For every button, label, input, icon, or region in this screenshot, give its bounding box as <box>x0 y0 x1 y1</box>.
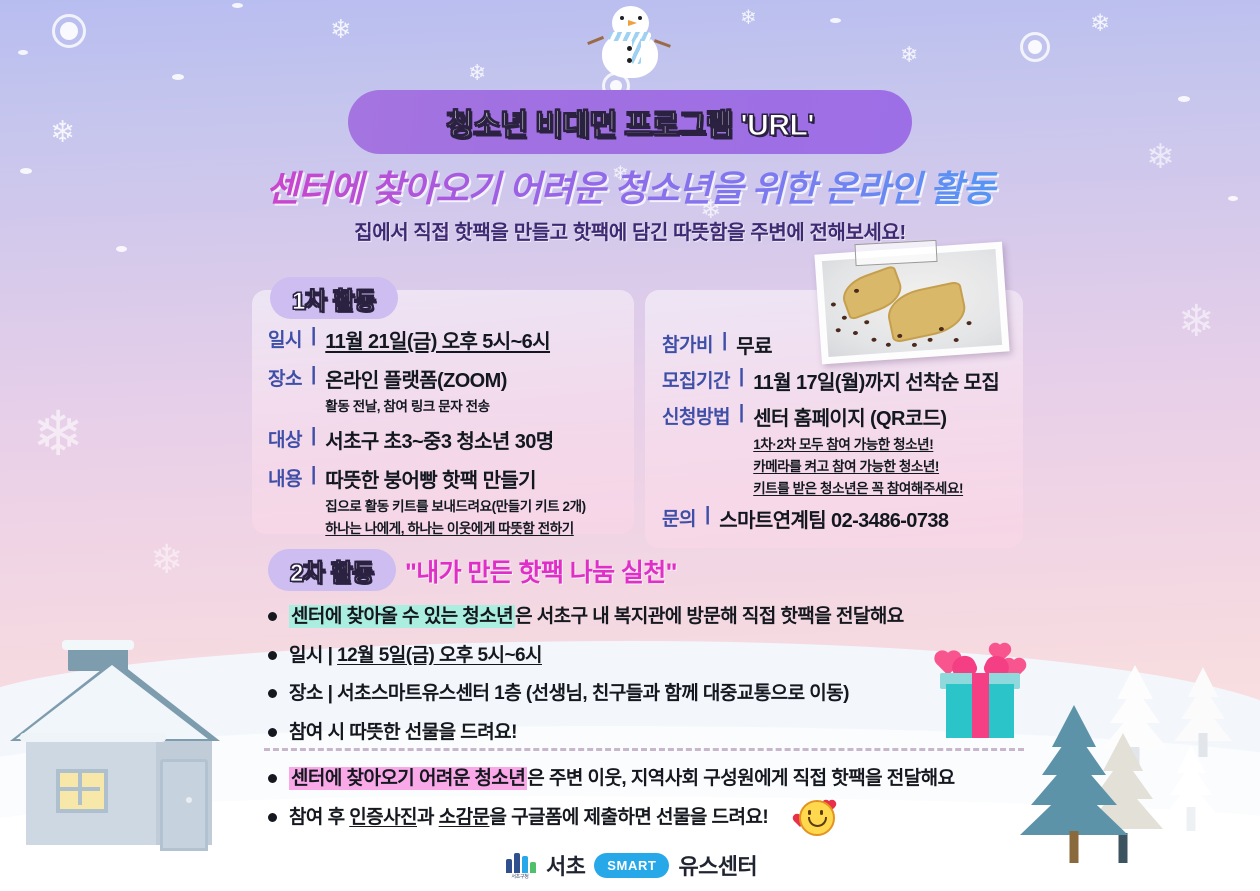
gift-box-icon <box>938 640 1022 738</box>
info-row-separator: | <box>311 325 316 347</box>
info-row-separator: | <box>722 330 727 352</box>
bullet-item: 일시 | 12월 5일(금) 오후 5시~6시 <box>268 642 1028 670</box>
info-row-note: 하나는 나에게, 하나는 이웃에게 따뜻함 전하기 <box>325 517 585 537</box>
bullet-item: 장소 | 서초스마트유스센터 1층 (선생님, 친구들과 함께 대중교통으로 이… <box>268 680 1028 708</box>
bullet-text-plain: 참여 후 <box>289 807 349 828</box>
pine-tree-white <box>1160 743 1222 831</box>
bullet-item: 센터에 찾아오기 어려운 청소년은 주변 이웃, 지역사회 구성원에게 직접 핫… <box>268 765 1028 793</box>
footer-smart-badge: SMART <box>594 853 669 878</box>
activity2-badge: 2차 활동 <box>268 549 396 591</box>
info-row-value: 스마트연계팀 02-3486-0738 <box>719 504 948 533</box>
info-row: 참가비|무료 <box>662 330 1022 359</box>
headline-text: 센터에 찾아오기 어려운 청소년을 위한 온라인 활동 <box>0 160 1260 212</box>
info-row-value-block: 스마트연계팀 02-3486-0738 <box>719 504 948 533</box>
smiley-face-icon <box>795 798 835 836</box>
bullet-text-emphasis: 센터에 찾아올 수 있는 청소년 <box>289 605 515 628</box>
activity1-left-rows: 일시|11월 21일(금) 오후 5시~6시장소|온라인 플랫폼(ZOOM)활동… <box>268 325 628 547</box>
snowflake-icon: ❄ <box>32 404 84 466</box>
subheadline-text: 집에서 직접 핫팩을 만들고 핫팩에 담긴 따뜻함을 주변에 전해보세요! <box>0 216 1260 245</box>
house-window <box>56 769 108 813</box>
info-row: 문의|스마트연계팀 02-3486-0738 <box>662 504 1022 533</box>
info-row: 대상|서초구 초3~중3 청소년 30명 <box>268 425 628 454</box>
activity1-badge: 1차 활동 <box>270 277 398 319</box>
program-title-text: 청소년 비대면 프로그램 'URL' <box>446 100 814 144</box>
bullet-text: 장소 | 서초스마트유스센터 1층 (선생님, 친구들과 함께 대중교통으로 이… <box>289 680 849 708</box>
info-row-value: 11월 17일(월)까지 선착순 모집 <box>753 366 999 395</box>
info-row-value-block: 따뜻한 붕어빵 핫팩 만들기집으로 활동 키트를 보내드려요(만들기 키트 2개… <box>325 464 585 537</box>
info-row: 내용|따뜻한 붕어빵 핫팩 만들기집으로 활동 키트를 보내드려요(만들기 키트… <box>268 464 628 537</box>
activity2-bullet-list-bottom: 센터에 찾아오기 어려운 청소년은 주변 이웃, 지역사회 구성원에게 직접 핫… <box>268 765 1028 842</box>
info-row-label: 대상 <box>268 425 302 452</box>
bullet-text-plain: 일시 | <box>289 645 337 666</box>
snow-dot <box>232 3 243 8</box>
info-row-value-block: 무료 <box>736 330 772 359</box>
section-divider <box>264 748 1024 751</box>
activity2-quote: "내가 만든 핫팩 나눔 실천" <box>405 553 677 589</box>
bullet-item: 참여 시 따뜻한 선물을 드려요! <box>268 719 1028 747</box>
info-row-value-block: 11월 21일(금) 오후 5시~6시 <box>325 325 550 354</box>
circle-decor-icon <box>52 14 86 48</box>
program-title-pill: 청소년 비대면 프로그램 'URL' <box>348 90 912 154</box>
info-row-value: 온라인 플랫폼(ZOOM) <box>325 364 506 393</box>
snow-dot <box>830 18 841 23</box>
snowflake-icon: ❄ <box>50 118 75 148</box>
info-row-value-block: 11월 17일(월)까지 선착순 모집 <box>753 366 999 395</box>
info-row-value: 무료 <box>736 330 772 359</box>
bullet-item: 참여 후 인증사진과 소감문을 구글폼에 제출하면 선물을 드려요! <box>268 804 1028 832</box>
info-row-label: 장소 <box>268 364 302 391</box>
activity2-bullet-list-top: 센터에 찾아올 수 있는 청소년은 서초구 내 복지관에 방문해 직접 핫팩을 … <box>268 603 1028 757</box>
circle-decor-icon <box>1020 32 1050 62</box>
bullet-text: 센터에 찾아오기 어려운 청소년은 주변 이웃, 지역사회 구성원에게 직접 핫… <box>289 765 955 793</box>
info-row: 일시|11월 21일(금) 오후 5시~6시 <box>268 325 628 354</box>
bullet-text-plain: 을 구글폼에 제출하면 선물을 드려요! <box>489 807 768 828</box>
info-row-value: 11월 21일(금) 오후 5시~6시 <box>325 325 550 354</box>
info-row-separator: | <box>311 464 316 486</box>
poster-canvas: ❄ ❄ ❄ ❄ ❄ ❄ ❄ ❄ ❄ ❄ ❄ ❄ 청소년 비대면 프로그램 'UR… <box>0 0 1260 891</box>
info-row-note: 집으로 활동 키트를 보내드려요(만들기 키트 2개) <box>325 495 585 515</box>
bullet-text-plain: 참여 시 따뜻한 선물을 드려요! <box>289 722 517 743</box>
snowflake-icon: ❄ <box>900 44 918 66</box>
info-row-note: 키트를 받은 청소년은 꼭 참여해주세요! <box>753 477 963 497</box>
info-row-label: 일시 <box>268 325 302 352</box>
snow-dot <box>116 246 127 252</box>
bullet-text: 참여 시 따뜻한 선물을 드려요! <box>289 719 517 747</box>
snow-dot <box>1178 96 1190 102</box>
info-row-separator: | <box>311 425 316 447</box>
bullet-text-plain: 은 서초구 내 복지관에 방문해 직접 핫팩을 전달해요 <box>515 606 904 627</box>
footer-text-before: 서초 <box>546 849 585 881</box>
snow-dot <box>172 74 184 80</box>
snowman-icon <box>588 2 672 82</box>
info-row-note: 카메라를 켜고 참여 가능한 청소년! <box>753 455 963 475</box>
bullet-dot-icon <box>268 813 277 822</box>
info-row-label: 신청방법 <box>662 402 730 429</box>
info-row-value: 따뜻한 붕어빵 핫팩 만들기 <box>325 464 585 493</box>
info-row-value-block: 온라인 플랫폼(ZOOM)활동 전날, 참여 링크 문자 전송 <box>325 364 506 415</box>
bullet-text-plain: 과 <box>417 807 439 828</box>
info-row-value: 서초구 초3~중3 청소년 30명 <box>325 425 553 454</box>
bullet-text-plain: 은 주변 이웃, 지역사회 구성원에게 직접 핫팩을 전달해요 <box>527 768 954 789</box>
bullet-dot-icon <box>268 774 277 783</box>
info-row-label: 내용 <box>268 464 302 491</box>
snowflake-icon: ❄ <box>330 16 352 42</box>
bullet-text: 센터에 찾아올 수 있는 청소년은 서초구 내 복지관에 방문해 직접 핫팩을 … <box>289 603 904 631</box>
snowflake-icon: ❄ <box>468 62 486 84</box>
info-row-label: 모집기간 <box>662 366 730 393</box>
bullet-text-emphasis: 소감문 <box>439 807 490 828</box>
info-row-value: 센터 홈페이지 (QR코드) <box>753 402 963 431</box>
seocho-logo-caption: 서초구청 <box>503 873 537 880</box>
info-row-value-block: 서초구 초3~중3 청소년 30명 <box>325 425 553 454</box>
bullet-text-emphasis: 인증사진 <box>349 807 417 828</box>
bullet-text: 참여 후 인증사진과 소감문을 구글폼에 제출하면 선물을 드려요! <box>289 804 768 832</box>
snow-house-illustration <box>8 629 240 849</box>
bullet-text-emphasis: 센터에 찾아오기 어려운 청소년 <box>289 767 527 790</box>
snow-dot <box>18 50 28 55</box>
info-row-label: 문의 <box>662 504 696 531</box>
info-row-separator: | <box>311 364 316 386</box>
snowflake-icon: ❄ <box>1178 300 1215 344</box>
info-row-separator: | <box>739 366 744 388</box>
info-row-value-block: 센터 홈페이지 (QR코드)1차·2차 모두 참여 가능한 청소년!카메라를 켜… <box>753 402 963 497</box>
footer-logo-bar: 서초구청 서초 SMART 유스센터 <box>0 849 1260 881</box>
snowflake-icon: ❄ <box>150 540 184 580</box>
house-door <box>160 759 208 851</box>
seocho-logo-icon: 서초구청 <box>503 850 537 880</box>
bullet-dot-icon <box>268 651 277 660</box>
info-row: 장소|온라인 플랫폼(ZOOM)활동 전날, 참여 링크 문자 전송 <box>268 364 628 415</box>
snowflake-icon: ❄ <box>740 8 757 28</box>
info-row-separator: | <box>739 402 744 424</box>
bullet-item: 센터에 찾아올 수 있는 청소년은 서초구 내 복지관에 방문해 직접 핫팩을 … <box>268 603 1028 631</box>
bullet-text-emphasis: 12월 5일(금) 오후 5시~6시 <box>337 645 542 666</box>
bullet-dot-icon <box>268 612 277 621</box>
pine-tree-blue <box>1018 705 1130 863</box>
info-row-note: 활동 전날, 참여 링크 문자 전송 <box>325 395 506 415</box>
bullet-dot-icon <box>268 728 277 737</box>
photo-tape-icon <box>854 240 937 266</box>
info-row-note: 1차·2차 모두 참여 가능한 청소년! <box>753 433 963 453</box>
footer-text-after: 유스센터 <box>678 849 757 881</box>
info-row: 신청방법|센터 홈페이지 (QR코드)1차·2차 모두 참여 가능한 청소년!카… <box>662 402 1022 497</box>
info-row-separator: | <box>705 504 710 526</box>
info-row: 모집기간|11월 17일(월)까지 선착순 모집 <box>662 366 1022 395</box>
bullet-dot-icon <box>268 689 277 698</box>
bullet-text-plain: 장소 | 서초스마트유스센터 1층 (선생님, 친구들과 함께 대중교통으로 이… <box>289 683 849 704</box>
bullet-text: 일시 | 12월 5일(금) 오후 5시~6시 <box>289 642 542 670</box>
info-row-label: 참가비 <box>662 330 713 357</box>
activity1-right-rows: 참가비|무료모집기간|11월 17일(월)까지 선착순 모집신청방법|센터 홈페… <box>662 330 1022 540</box>
snowflake-icon: ❄ <box>1090 12 1110 36</box>
